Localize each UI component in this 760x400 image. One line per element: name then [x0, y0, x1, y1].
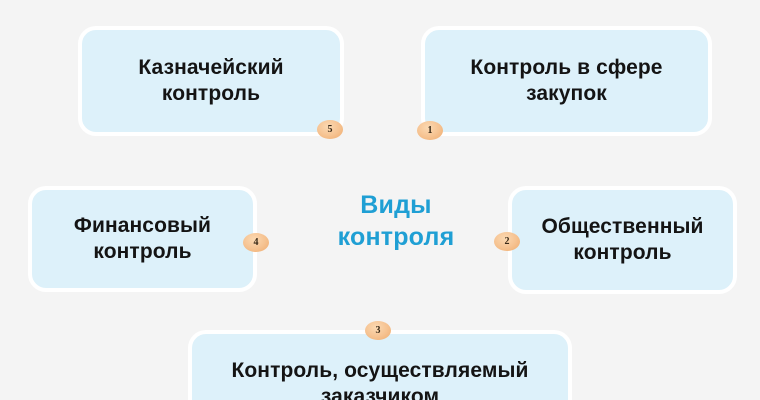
node-customer-control-label: Контроль, осуществляемыйзаказчиком: [202, 354, 558, 400]
node-treasury-control[interactable]: Казначейскийконтроль: [78, 26, 344, 136]
node-public-control-label: Общественныйконтроль: [522, 214, 723, 265]
diagram-canvas: Казначейскийконтроль Контроль в сферезак…: [0, 0, 760, 400]
node-financial-control[interactable]: Финансовыйконтроль: [28, 186, 257, 292]
badge-number-1: 1: [417, 121, 443, 140]
node-procurement-control[interactable]: Контроль в сферезакупок: [421, 26, 712, 136]
badge-number-2: 2: [494, 232, 520, 251]
badge-number-4: 4: [243, 233, 269, 252]
node-public-control[interactable]: Общественныйконтроль: [508, 186, 737, 294]
node-financial-control-label: Финансовыйконтроль: [42, 213, 243, 264]
diagram-center-title: Видыконтроля: [310, 190, 482, 253]
badge-number-5: 5: [317, 120, 343, 139]
node-treasury-control-label: Казначейскийконтроль: [92, 55, 330, 106]
node-customer-control[interactable]: Контроль, осуществляемыйзаказчиком: [188, 330, 572, 400]
node-procurement-control-label: Контроль в сферезакупок: [435, 55, 698, 106]
badge-number-3: 3: [365, 321, 391, 340]
